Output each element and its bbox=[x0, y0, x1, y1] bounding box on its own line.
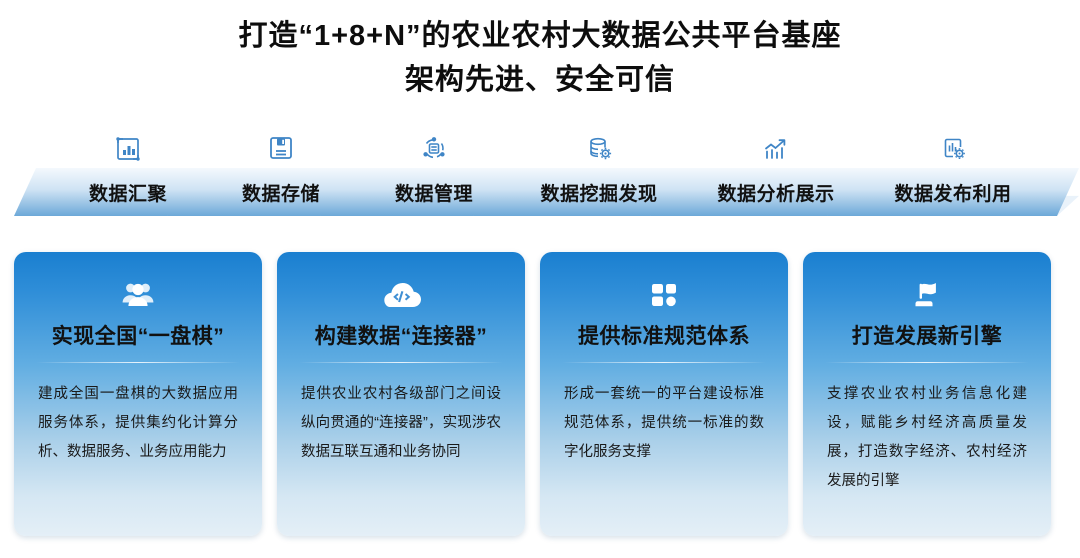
feature-cards: 实现全国“一盘棋” 建成全国一盘棋的大数据应用服务体系，提供集约化计算分析、数据… bbox=[0, 252, 1080, 540]
card-divider bbox=[562, 362, 766, 363]
card-divider bbox=[825, 362, 1029, 363]
title-line-1: 打造“1+8+N”的农业农村大数据公共平台基座 bbox=[0, 14, 1080, 58]
card-title: 打造发展新引擎 bbox=[803, 320, 1051, 350]
feature-card-3[interactable]: 提供标准规范体系 形成一套统一的平台建设标准规范体系，提供统一标准的数字化服务支… bbox=[540, 252, 788, 536]
card-description: 形成一套统一的平台建设标准规范体系，提供统一标准的数字化服务支撑 bbox=[564, 380, 764, 467]
card-description: 建成全国一盘棋的大数据应用服务体系，提供集约化计算分析、数据服务、业务应用能力 bbox=[38, 380, 238, 467]
people-icon bbox=[14, 276, 262, 316]
band-stage-label: 数据发布利用 bbox=[827, 168, 1079, 216]
card-title: 构建数据“连接器” bbox=[277, 320, 525, 350]
feature-card-1[interactable]: 实现全国“一盘棋” 建成全国一盘棋的大数据应用服务体系，提供集约化计算分析、数据… bbox=[14, 252, 262, 536]
card-divider bbox=[299, 362, 503, 363]
card-title: 提供标准规范体系 bbox=[540, 320, 788, 350]
cloud-code-icon bbox=[277, 276, 525, 316]
flag-icon bbox=[803, 276, 1051, 316]
title-line-2: 架构先进、安全可信 bbox=[0, 58, 1080, 102]
feature-card-2[interactable]: 构建数据“连接器” 提供农业农村各级部门之间设纵向贯通的“连接器”，实现涉农数据… bbox=[277, 252, 525, 536]
page-title: 打造“1+8+N”的农业农村大数据公共平台基座 架构先进、安全可信 bbox=[0, 14, 1080, 102]
report-gear-icon bbox=[827, 134, 1079, 164]
grid-dashboard-icon bbox=[540, 276, 788, 316]
card-description: 支撑农业农村业务信息化建设，赋能乡村经济高质量发展，打造数字经济、农村经济发展的… bbox=[827, 380, 1027, 496]
process-band: 数据汇聚 数据存储 bbox=[0, 132, 1080, 232]
card-divider bbox=[36, 362, 240, 363]
feature-card-4[interactable]: 打造发展新引擎 支撑农业农村业务信息化建设，赋能乡村经济高质量发展，打造数字经济… bbox=[803, 252, 1051, 536]
card-description: 提供农业农村各级部门之间设纵向贯通的“连接器”，实现涉农数据互联互通和业务协同 bbox=[301, 380, 501, 467]
card-title: 实现全国“一盘棋” bbox=[14, 320, 262, 350]
band-stage-6[interactable]: 数据发布利用 bbox=[827, 168, 1079, 216]
